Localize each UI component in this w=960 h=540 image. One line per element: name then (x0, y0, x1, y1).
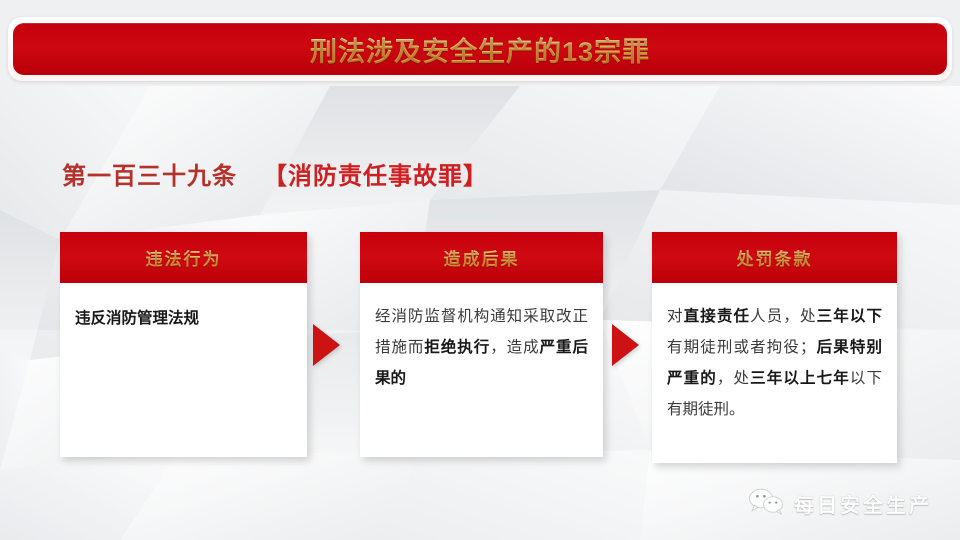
slide-root: 刑法涉及安全生产的13宗罪 第一百三十九条【消防责任事故罪】 违法行为 违反消防… (0, 0, 960, 540)
emphasis-text: 三年以下 (817, 308, 882, 325)
title-banner: 刑法涉及安全生产的13宗罪 (13, 23, 947, 75)
body-text: 人员，处 (750, 308, 816, 325)
emphasis-text: 违反消防管理法规 (75, 310, 199, 327)
card-header-consequence: 造成后果 (360, 232, 603, 283)
footer-account-name: 每日安全生产 (794, 489, 932, 518)
card-body-consequence: 经消防监督机构通知采取改正措施而拒绝执行，造成严重后果的 (360, 283, 603, 404)
card-body-penalty: 对直接责任人员，处三年以下有期徒刑或者拘役；后果特别严重的，处三年以上七年以下有… (652, 283, 897, 435)
card-header-illegal-conduct: 违法行为 (60, 232, 307, 283)
arrow-right-icon (612, 324, 639, 366)
subtitle-line: 第一百三十九条【消防责任事故罪】 (62, 156, 488, 191)
subtitle-article-number: 第一百三十九条 (62, 163, 237, 190)
page-title: 刑法涉及安全生产的13宗罪 (310, 30, 650, 69)
card-illegal-conduct: 违法行为 违反消防管理法规 (60, 232, 307, 457)
card-header-label: 造成后果 (444, 245, 520, 270)
card-consequence: 造成后果 经消防监督机构通知采取改正措施而拒绝执行，造成严重后果的 (360, 232, 603, 457)
footer-watermark: 每日安全生产 (748, 487, 932, 520)
emphasis-text: 直接责任 (684, 308, 750, 325)
card-header-label: 处罚条款 (737, 245, 813, 270)
body-text: 对 (667, 308, 684, 325)
arrow-right-icon (313, 324, 340, 366)
card-penalty: 处罚条款 对直接责任人员，处三年以下有期徒刑或者拘役；后果特别严重的，处三年以上… (652, 232, 897, 463)
emphasis-text: 拒绝执行 (424, 339, 490, 356)
body-text: ，处 (717, 370, 750, 387)
card-header-label: 违法行为 (146, 245, 222, 270)
card-header-penalty: 处罚条款 (652, 232, 897, 283)
emphasis-text: 三年以上七年 (750, 370, 850, 387)
subtitle-crime-name: 【消防责任事故罪】 (263, 163, 488, 190)
body-text: 有期徒刑或者拘役； (667, 339, 815, 356)
card-body-illegal-conduct: 违反消防管理法规 (60, 283, 307, 344)
body-text: ，造成 (490, 339, 539, 356)
wechat-icon (748, 487, 784, 520)
